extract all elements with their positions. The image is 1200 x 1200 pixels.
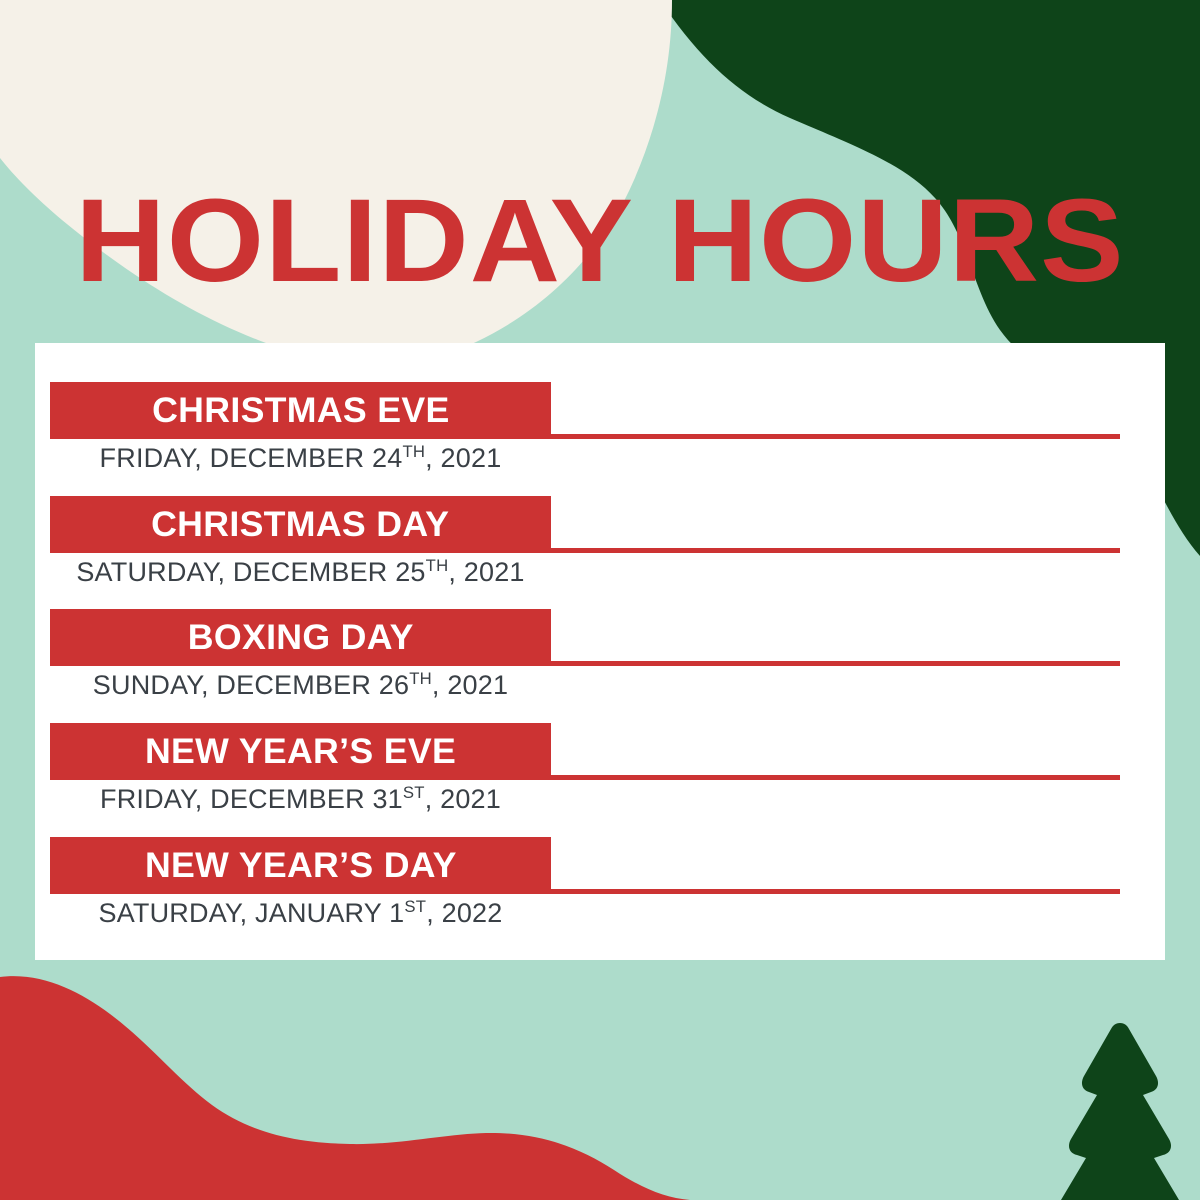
holiday-banner: CHRISTMAS EVE — [50, 382, 551, 439]
holiday-banner: NEW YEAR’S EVE — [50, 723, 551, 780]
holiday-banner: NEW YEAR’S DAY — [50, 837, 551, 894]
schedule-row: BOXING DAY SUNDAY, DECEMBER 26TH, 2021 — [35, 609, 1165, 723]
date-weekday: FRIDAY, DECEMBER 31 — [100, 784, 403, 814]
date-year: , 2022 — [426, 898, 502, 928]
date-weekday: FRIDAY, DECEMBER 24 — [100, 443, 403, 473]
holiday-name: CHRISTMAS EVE — [152, 393, 450, 428]
date-year: , 2021 — [432, 670, 508, 700]
holiday-date: SATURDAY, JANUARY 1ST, 2022 — [50, 897, 551, 931]
page-title: HOLIDAY HOURS — [75, 182, 1124, 300]
holiday-date: SUNDAY, DECEMBER 26TH, 2021 — [50, 669, 551, 703]
holiday-name: NEW YEAR’S EVE — [145, 734, 456, 769]
schedule-row: CHRISTMAS EVE FRIDAY, DECEMBER 24TH, 202… — [35, 382, 1165, 496]
date-ordinal: ST — [403, 783, 425, 802]
schedule-card: CHRISTMAS EVE FRIDAY, DECEMBER 24TH, 202… — [35, 343, 1165, 960]
date-year: , 2021 — [425, 443, 501, 473]
date-year: , 2021 — [425, 784, 501, 814]
holiday-name: CHRISTMAS DAY — [151, 507, 449, 542]
holiday-date: FRIDAY, DECEMBER 24TH, 2021 — [50, 442, 551, 476]
schedule-rows: CHRISTMAS EVE FRIDAY, DECEMBER 24TH, 202… — [35, 343, 1165, 960]
schedule-row: NEW YEAR’S EVE FRIDAY, DECEMBER 31ST, 20… — [35, 723, 1165, 837]
date-ordinal: ST — [404, 897, 426, 916]
hours-write-in-rule — [551, 775, 1120, 780]
date-ordinal: TH — [402, 442, 425, 461]
date-ordinal: TH — [409, 669, 432, 688]
date-weekday: SATURDAY, JANUARY 1 — [99, 898, 405, 928]
date-year: , 2021 — [448, 557, 524, 587]
schedule-row: NEW YEAR’S DAY SATURDAY, JANUARY 1ST, 20… — [35, 837, 1165, 951]
date-ordinal: TH — [426, 556, 449, 575]
page-title-wrap: HOLIDAY HOURS — [0, 182, 1200, 300]
date-weekday: SATURDAY, DECEMBER 25 — [76, 557, 425, 587]
hours-write-in-rule — [551, 434, 1120, 439]
holiday-banner: CHRISTMAS DAY — [50, 496, 551, 553]
hours-write-in-rule — [551, 889, 1120, 894]
holiday-date: FRIDAY, DECEMBER 31ST, 2021 — [50, 783, 551, 817]
holiday-date: SATURDAY, DECEMBER 25TH, 2021 — [50, 556, 551, 590]
hours-write-in-rule — [551, 548, 1120, 553]
date-weekday: SUNDAY, DECEMBER 26 — [93, 670, 409, 700]
holiday-name: NEW YEAR’S DAY — [145, 848, 457, 883]
holiday-name: BOXING DAY — [188, 620, 414, 655]
schedule-row: CHRISTMAS DAY SATURDAY, DECEMBER 25TH, 2… — [35, 496, 1165, 610]
holiday-banner: BOXING DAY — [50, 609, 551, 666]
hours-write-in-rule — [551, 661, 1120, 666]
